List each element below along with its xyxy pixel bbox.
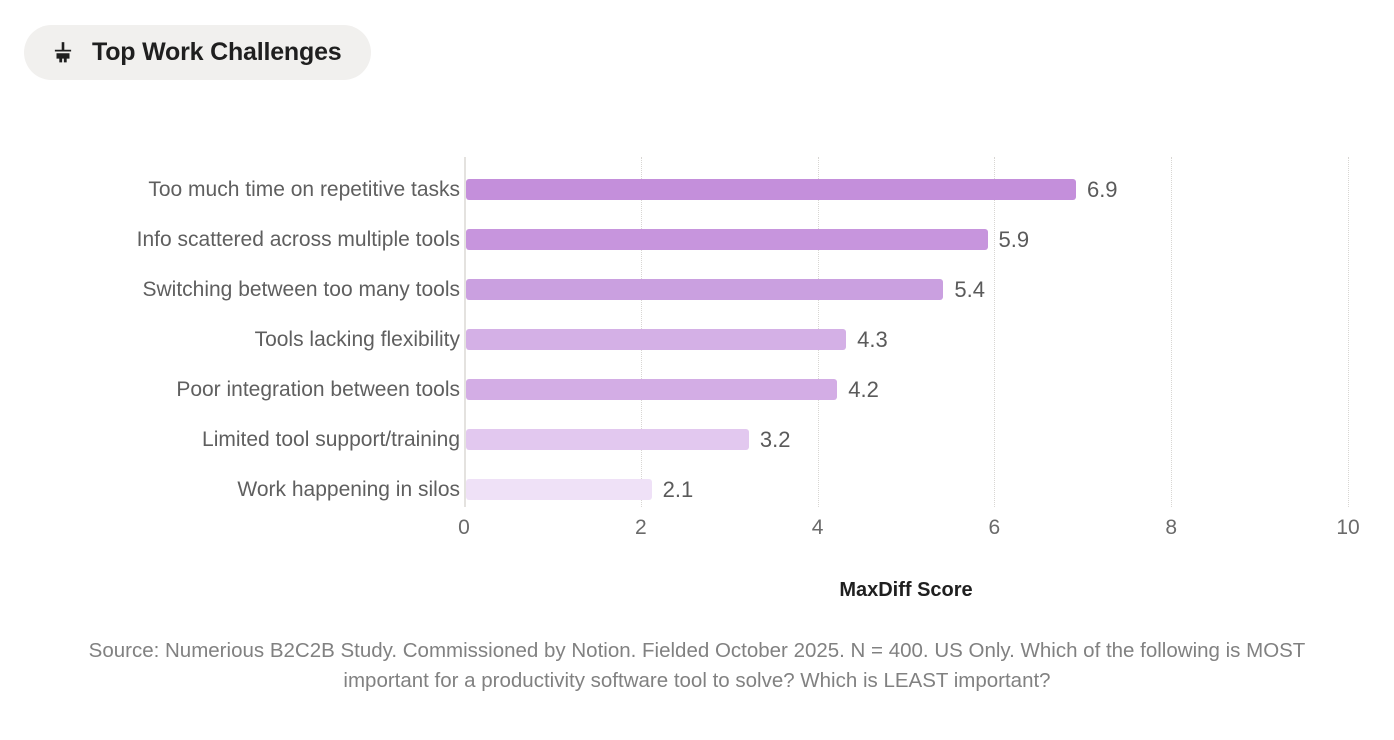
- x-tick-label: 4: [788, 516, 848, 540]
- x-tick-label: 0: [434, 516, 494, 540]
- category-label: Switching between too many tools: [40, 265, 460, 315]
- category-label: Too much time on repetitive tasks: [40, 165, 460, 215]
- category-label: Limited tool support/training: [40, 415, 460, 465]
- bar: [466, 279, 943, 300]
- bar-value-label: 3.2: [760, 415, 791, 465]
- x-tick-label: 8: [1141, 516, 1201, 540]
- bar: [466, 229, 988, 250]
- x-tick-label: 6: [964, 516, 1024, 540]
- bar-value-label: 2.1: [663, 465, 694, 515]
- bar-value-label: 5.4: [954, 265, 985, 315]
- bar-row: Work happening in silos2.1: [0, 465, 1394, 515]
- category-label: Poor integration between tools: [40, 365, 460, 415]
- bar: [466, 179, 1076, 200]
- bar-value-label: 4.2: [848, 365, 879, 415]
- bar: [466, 429, 749, 450]
- bar-value-label: 4.3: [857, 315, 888, 365]
- bar-row: Poor integration between tools4.2: [0, 365, 1394, 415]
- source-note: Source: Numerious B2C2B Study. Commissio…: [47, 636, 1347, 696]
- x-tick-label: 2: [611, 516, 671, 540]
- bar: [466, 479, 652, 500]
- bar-row: Switching between too many tools5.4: [0, 265, 1394, 315]
- bar-value-label: 5.9: [999, 215, 1030, 265]
- bar: [466, 379, 837, 400]
- category-label: Work happening in silos: [40, 465, 460, 515]
- bar-row: Info scattered across multiple tools5.9: [0, 215, 1394, 265]
- bar: [466, 329, 846, 350]
- category-label: Info scattered across multiple tools: [40, 215, 460, 265]
- bar-chart: Too much time on repetitive tasks6.9Info…: [0, 0, 1394, 740]
- bar-row: Too much time on repetitive tasks6.9: [0, 165, 1394, 215]
- bar-row: Tools lacking flexibility4.3: [0, 315, 1394, 365]
- bar-value-label: 6.9: [1087, 165, 1118, 215]
- category-label: Tools lacking flexibility: [40, 315, 460, 365]
- x-axis-label: MaxDiff Score: [464, 579, 1348, 602]
- bar-row: Limited tool support/training3.2: [0, 415, 1394, 465]
- x-tick-label: 10: [1318, 516, 1378, 540]
